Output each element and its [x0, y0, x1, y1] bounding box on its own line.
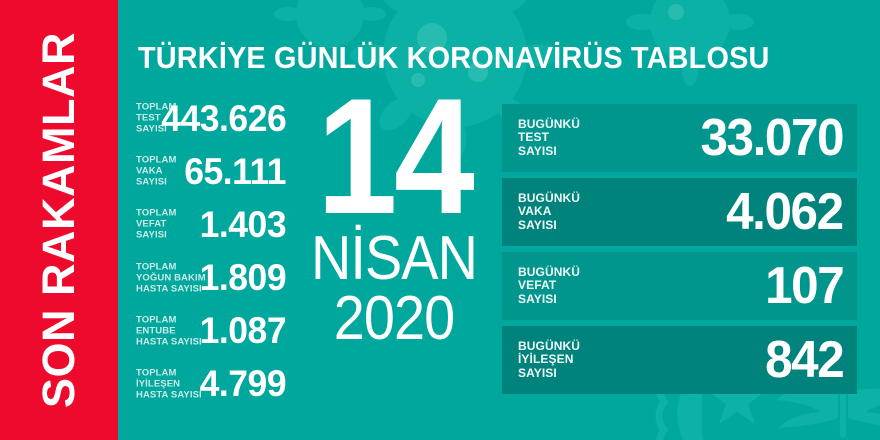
total-value-cases: 65.111 — [184, 153, 286, 190]
today-label-cases-line1: BUGÜNKÜ — [518, 191, 580, 205]
today-label-deaths-line3: SAYISI — [518, 292, 557, 306]
covid-daily-table-poster: SON RAKAMLAR TÜRKİYE GÜNLÜK KORONAVİRÜS … — [0, 0, 880, 440]
date-month: NİSAN — [306, 229, 482, 289]
today-card-test: BUGÜNKÜ TEST SAYISI 33.070 — [502, 104, 857, 172]
total-label-intensive-care: TOPLAM YOĞUN BAKIM HASTA SAYISI — [136, 261, 206, 294]
date-year: 2020 — [306, 288, 482, 350]
total-label-intensive-care-line2: YOĞUN BAKIM — [136, 272, 206, 283]
total-label-deaths-line2: VEFAT — [136, 219, 166, 230]
total-label-cases-line1: TOPLAM — [136, 155, 177, 166]
today-label-recovered-line3: SAYISI — [518, 366, 557, 380]
total-row-test: TOPLAM TEST SAYISI 443.626 — [136, 96, 286, 140]
total-label-deaths-line1: TOPLAM — [136, 208, 177, 219]
today-label-deaths: BUGÜNKÜ VEFAT SAYISI — [518, 266, 580, 307]
total-label-intubated: TOPLAM ENTUBE HASTA SAYISI — [136, 314, 202, 347]
today-value-cases: 4.062 — [726, 186, 843, 238]
total-label-recovered-line1: TOPLAM — [136, 367, 177, 378]
total-label-recovered-line3: HASTA SAYISI — [136, 389, 202, 400]
today-label-test: BUGÜNKÜ TEST SAYISI — [518, 118, 580, 159]
total-label-cases: TOPLAM VAKA SAYISI — [136, 155, 177, 188]
total-label-cases-line3: SAYISI — [136, 177, 167, 188]
total-label-intubated-line1: TOPLAM — [136, 314, 177, 325]
today-label-recovered: BUGÜNKÜ İYİLEŞEN SAYISI — [518, 340, 580, 381]
totals-column: TOPLAM TEST SAYISI 443.626 TOPLAM VAKA S… — [136, 96, 286, 406]
total-label-deaths-line3: SAYISI — [136, 230, 167, 241]
total-label-test-line2: TEST — [136, 113, 161, 124]
today-label-cases: BUGÜNKÜ VAKA SAYISI — [518, 192, 580, 233]
today-label-recovered-line2: İYİLEŞEN — [518, 352, 573, 366]
total-row-intensive-care: TOPLAM YOĞUN BAKIM HASTA SAYISI 1.809 — [136, 256, 286, 300]
date-block: 14 NİSAN 2020 — [296, 92, 492, 402]
total-label-intubated-line2: ENTUBE — [136, 325, 176, 336]
today-value-test: 33.070 — [700, 112, 843, 164]
today-label-cases-line3: SAYISI — [518, 218, 557, 232]
total-value-deaths: 1.403 — [200, 206, 286, 243]
total-value-recovered: 4.799 — [200, 365, 286, 402]
total-row-cases: TOPLAM VAKA SAYISI 65.111 — [136, 149, 286, 193]
today-value-recovered: 842 — [765, 334, 843, 386]
total-row-deaths: TOPLAM VEFAT SAYISI 1.403 — [136, 202, 286, 246]
today-label-cases-line2: VAKA — [518, 204, 552, 218]
date-day: 14 — [308, 92, 480, 221]
total-value-test: 443.626 — [161, 100, 286, 137]
today-card-cases: BUGÜNKÜ VAKA SAYISI 4.062 — [502, 178, 857, 246]
total-value-intensive-care: 1.809 — [200, 259, 286, 296]
total-row-intubated: TOPLAM ENTUBE HASTA SAYISI 1.087 — [136, 309, 286, 353]
total-label-intensive-care-line1: TOPLAM — [136, 261, 177, 272]
total-row-recovered: TOPLAM İYİLEŞEN HASTA SAYISI 4.799 — [136, 362, 286, 406]
today-label-test-line1: BUGÜNKÜ — [518, 117, 580, 131]
sidebar-label: SON RAKAMLAR — [33, 32, 85, 408]
today-card-deaths: BUGÜNKÜ VEFAT SAYISI 107 — [502, 252, 857, 320]
today-label-recovered-line1: BUGÜNKÜ — [518, 339, 580, 353]
total-label-recovered-line2: İYİLEŞEN — [136, 378, 180, 389]
total-label-intubated-line3: HASTA SAYISI — [136, 336, 202, 347]
today-card-recovered: BUGÜNKÜ İYİLEŞEN SAYISI 842 — [502, 326, 857, 394]
total-label-deaths: TOPLAM VEFAT SAYISI — [136, 208, 177, 241]
total-label-cases-line2: VAKA — [136, 166, 163, 177]
today-label-test-line3: SAYISI — [518, 144, 557, 158]
total-label-intensive-care-line3: HASTA SAYISI — [136, 283, 202, 294]
today-label-deaths-line1: BUGÜNKÜ — [518, 265, 580, 279]
sidebar-son-rakamlar: SON RAKAMLAR — [0, 0, 118, 440]
total-value-intubated: 1.087 — [200, 312, 286, 349]
today-label-test-line2: TEST — [518, 130, 549, 144]
today-value-deaths: 107 — [765, 260, 843, 312]
today-cards-column: BUGÜNKÜ TEST SAYISI 33.070 BUGÜNKÜ VAKA … — [502, 104, 857, 394]
total-label-recovered: TOPLAM İYİLEŞEN HASTA SAYISI — [136, 367, 202, 400]
today-label-deaths-line2: VEFAT — [518, 278, 556, 292]
